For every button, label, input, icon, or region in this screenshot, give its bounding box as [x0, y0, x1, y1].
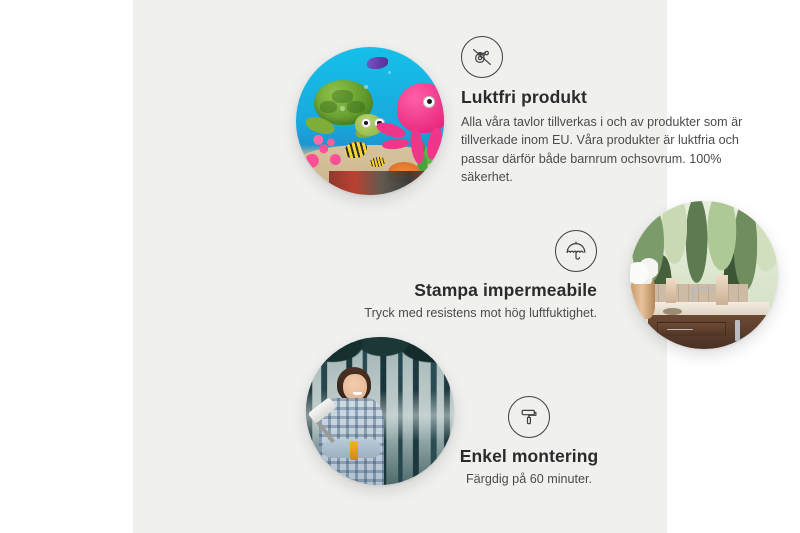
feature-description: Färgdig på 60 minuter.	[439, 470, 619, 488]
feature-description: Alla våra tavlor tillverkas i och av pro…	[461, 113, 769, 187]
feature-description: Tryck med resistens mot hög luftfuktighe…	[349, 304, 597, 322]
feature-odourless-product: Luktfri produkt Alla våra tavlor tillver…	[461, 36, 769, 187]
feature-title: Stampa impermeabile	[349, 280, 597, 301]
no-fragrance-icon	[461, 36, 503, 78]
paint-roller-icon	[508, 396, 550, 438]
woman-paint-roller-forest-circle-photo	[306, 337, 454, 485]
feature-easy-assembly: Enkel montering Färgdig på 60 minuter.	[439, 396, 619, 488]
feature-waterproof-print: Stampa impermeabile Tryck med resistens …	[349, 230, 597, 322]
content-panel: Luktfri produkt Alla våra tavlor tillver…	[133, 0, 667, 533]
feature-title: Enkel montering	[439, 446, 619, 467]
bathroom-green-wallpaper-circle-photo	[630, 201, 778, 349]
feature-title: Luktfri produkt	[461, 87, 769, 108]
infographic-canvas: Luktfri produkt Alla våra tavlor tillver…	[0, 0, 800, 533]
umbrella-icon	[555, 230, 597, 272]
underwater-cartoon-circle-photo	[296, 47, 444, 195]
